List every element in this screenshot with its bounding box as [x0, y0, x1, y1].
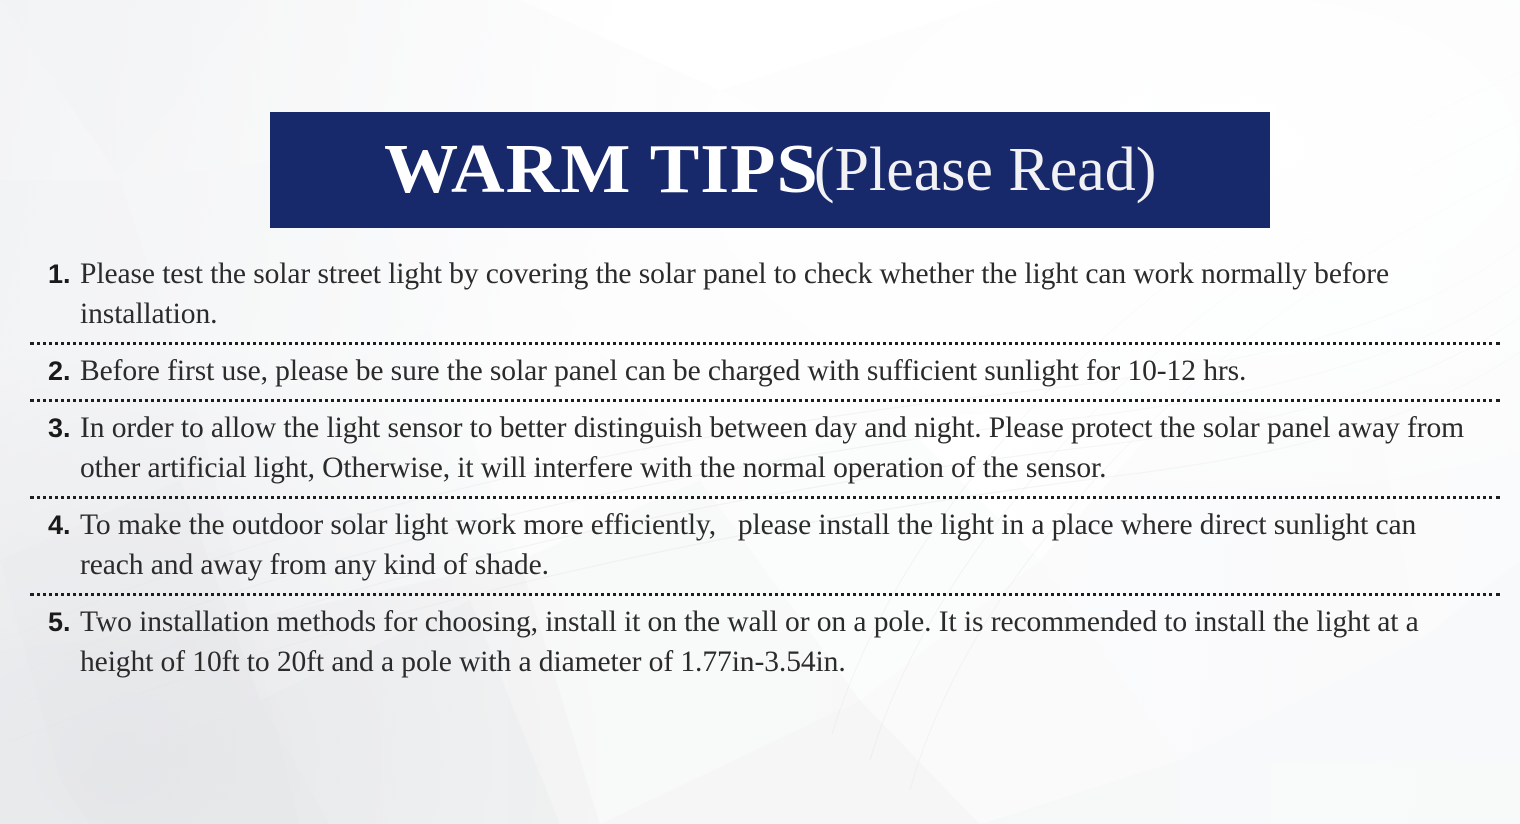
- list-item-text: Please test the solar street light by co…: [80, 254, 1479, 334]
- list-item: 5. Two installation methods for choosing…: [30, 596, 1500, 690]
- list-item-number: 2.: [30, 351, 80, 391]
- list-item-text: In order to allow the light sensor to be…: [80, 408, 1479, 488]
- list-item-number: 3.: [30, 408, 80, 448]
- tips-list: 1. Please test the solar street light by…: [30, 248, 1500, 690]
- list-item-text: Before first use, please be sure the sol…: [80, 351, 1479, 391]
- warm-tips-page: WARM TIPS (Please Read) 1. Please test t…: [0, 0, 1520, 824]
- warm-tips-banner: WARM TIPS (Please Read): [270, 112, 1270, 228]
- list-item-text: Two installation methods for choosing, i…: [80, 602, 1479, 682]
- banner-title-bold: WARM TIPS: [384, 135, 819, 205]
- list-item-text: To make the outdoor solar light work mor…: [80, 505, 1479, 585]
- banner-title-subtitle: (Please Read): [814, 139, 1157, 201]
- list-item-number: 5.: [30, 602, 80, 642]
- list-item: 4. To make the outdoor solar light work …: [30, 499, 1500, 593]
- list-item: 2. Before first use, please be sure the …: [30, 345, 1500, 399]
- list-item-number: 4.: [30, 505, 80, 545]
- list-item: 1. Please test the solar street light by…: [30, 248, 1500, 342]
- list-item: 3. In order to allow the light sensor to…: [30, 402, 1500, 496]
- list-item-number: 1.: [30, 254, 80, 294]
